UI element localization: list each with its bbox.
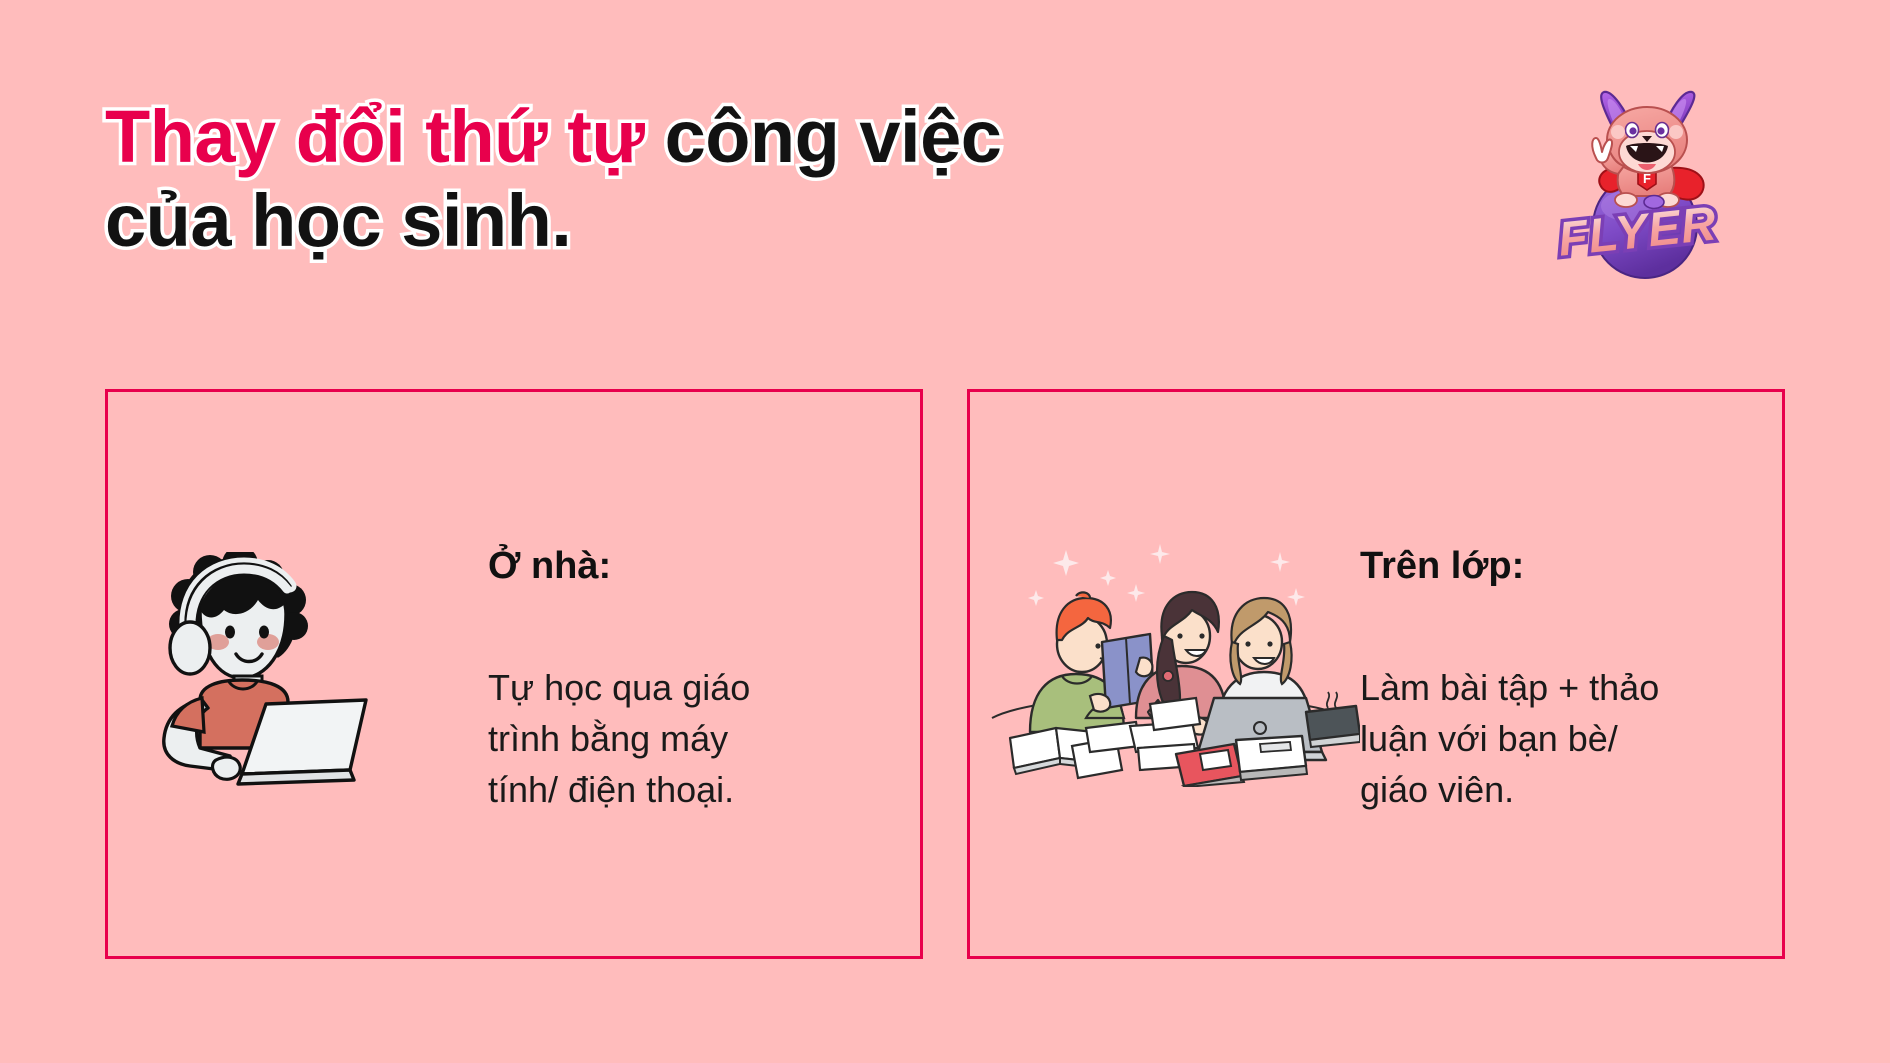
card-home-body: Tự học qua giáo trình bằng máy tính/ điệ…	[488, 662, 750, 815]
slide-canvas: Thay đổi thứ tự công việc của học sinh.	[0, 0, 1890, 1063]
card-home-body-line-3: tính/ điện thoại.	[488, 764, 750, 815]
card-home-heading: Ở nhà:	[488, 544, 611, 588]
card-class-text: Trên lớp: Làm bài tập + thảo luận với bạ…	[1360, 392, 1720, 956]
flyer-logo-icon: F	[1552, 88, 1737, 283]
card-class-body: Làm bài tập + thảo luận với bạn bè/ giáo…	[1360, 662, 1659, 815]
card-class-body-line-3: giáo viên.	[1360, 764, 1659, 815]
illustration-child-with-headphones-laptop	[138, 552, 438, 802]
card-class-heading: Trên lớp:	[1360, 544, 1524, 588]
flyer-logo[interactable]: F	[1552, 88, 1737, 283]
card-home-body-line-2: trình bằng máy	[488, 713, 750, 764]
title-line1-rest: công việc	[665, 95, 1002, 178]
title-line-1: Thay đổi thứ tự công việc	[105, 95, 1305, 179]
title-line-2: của học sinh.	[105, 179, 1305, 263]
students-table-icon	[990, 532, 1360, 787]
page-title: Thay đổi thứ tự công việc của học sinh.	[105, 95, 1305, 263]
title-highlight-text: Thay đổi thứ tự	[105, 95, 665, 178]
card-class-body-line-2: luận với bạn bè/	[1360, 713, 1659, 764]
illustration-three-students-studying	[990, 532, 1360, 787]
child-laptop-icon	[138, 552, 438, 802]
title-line2-text: của học sinh.	[105, 179, 571, 262]
card-in-class[interactable]: Trên lớp: Làm bài tập + thảo luận với bạ…	[967, 389, 1785, 959]
flyer-wordmark: FLYER	[1556, 197, 1719, 266]
card-home-text: Ở nhà: Tự học qua giáo trình bằng máy tí…	[488, 392, 808, 956]
card-at-home[interactable]: Ở nhà: Tự học qua giáo trình bằng máy tí…	[105, 389, 923, 959]
sparkle-group	[1028, 544, 1305, 606]
card-home-body-line-1: Tự học qua giáo	[488, 662, 750, 713]
card-class-body-line-1: Làm bài tập + thảo	[1360, 662, 1659, 713]
